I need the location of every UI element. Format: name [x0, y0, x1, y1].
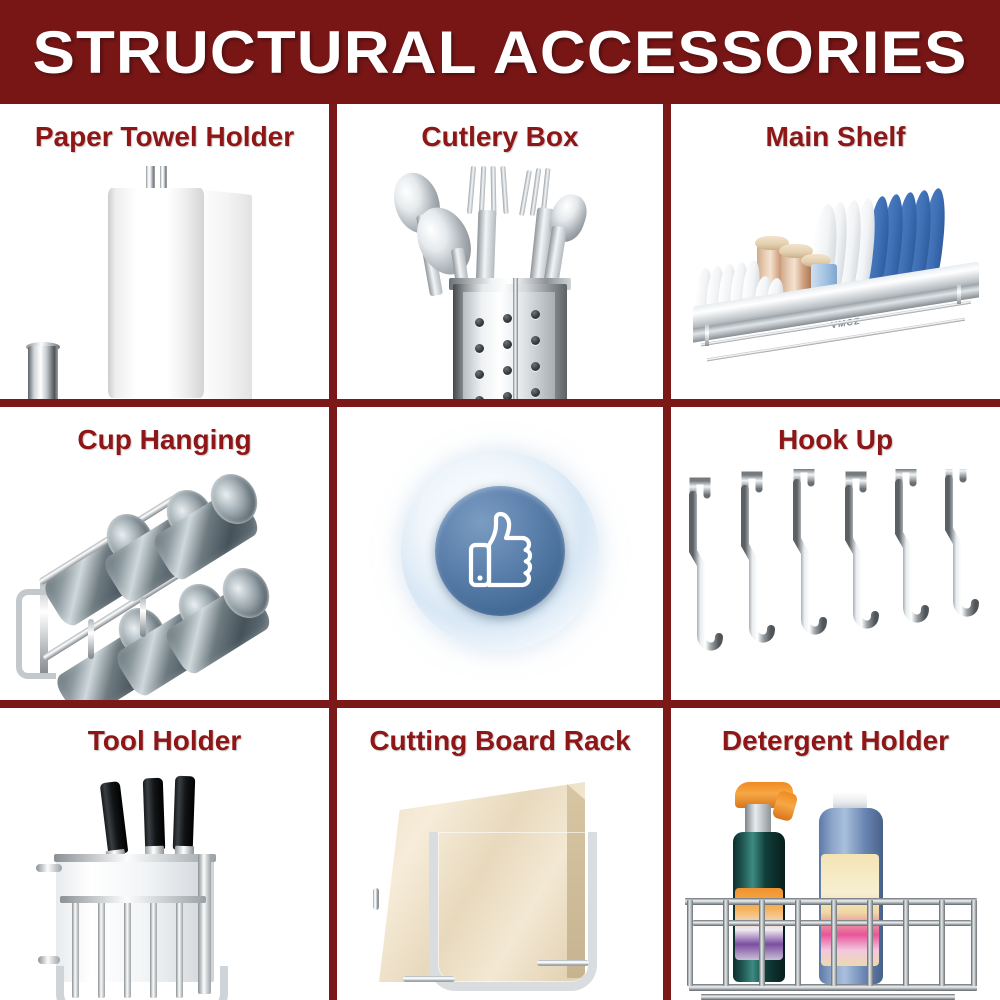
product-image-quality-badge: [337, 407, 663, 694]
cell-paper-towel-holder[interactable]: Paper Towel Holder: [0, 104, 329, 399]
cell-cutting-board-rack[interactable]: Cutting Board Rack: [337, 708, 663, 1000]
cell-cutlery-box[interactable]: Cutlery Box: [337, 104, 663, 399]
product-image-hook-up: [671, 469, 1000, 694]
fork-tine-3: [491, 166, 497, 216]
product-image-detergent-holder: [671, 770, 1000, 994]
grid-divider-vertical-1: [329, 104, 337, 1000]
cell-detergent-holder[interactable]: Detergent Holder: [671, 708, 1000, 1000]
rack-post: [88, 619, 94, 659]
cell-tool-holder[interactable]: Tool Holder: [0, 708, 329, 1000]
basket-rail: [60, 896, 206, 903]
cell-title-cutlery-box: Cutlery Box: [337, 122, 663, 153]
grid-divider-vertical-2: [663, 104, 671, 1000]
basket-wire: [687, 900, 693, 986]
feature-grid: Paper Towel Holder Cutlery Box: [0, 104, 1000, 1000]
cell-title-cutting-board-rack: Cutting Board Rack: [337, 726, 663, 757]
drain-hole: [503, 340, 512, 349]
cell-main-shelf[interactable]: Main Shelf: [671, 104, 1000, 399]
basket-wire: [723, 900, 729, 986]
drain-hole: [531, 388, 540, 397]
drain-hole: [475, 370, 484, 379]
holder-mount-tab: [36, 864, 62, 872]
hook-group: [671, 469, 1000, 694]
holder-mount-tab: [38, 956, 60, 964]
drain-hole: [531, 362, 540, 371]
basket-foot: [701, 994, 955, 1000]
rack-bracket: [16, 589, 56, 679]
drain-hole: [531, 310, 540, 319]
paper-sheet: [196, 189, 252, 399]
product-image-main-shelf: VMCZ: [671, 166, 1000, 393]
caddy-divider: [513, 278, 518, 399]
rack-foot: [537, 960, 589, 966]
product-image-cutlery-box: [337, 166, 663, 393]
cell-quality-badge[interactable]: [337, 407, 663, 700]
basket-wire: [795, 900, 801, 986]
basket-wire: [903, 900, 909, 986]
product-image-tool-holder: [0, 770, 329, 994]
cell-title-cup-hanging: Cup Hanging: [0, 425, 329, 456]
cell-title-hook-up: Hook Up: [671, 425, 1000, 456]
page-title: STRUCTURAL ACCESSORIES: [32, 18, 967, 87]
thumbs-up-icon: [454, 505, 546, 597]
header-banner: STRUCTURAL ACCESSORIES: [0, 0, 1000, 104]
product-feature-infographic: STRUCTURAL ACCESSORIES Paper Towel Holde…: [0, 0, 1000, 1000]
drain-hole: [503, 314, 512, 323]
product-image-paper-towel-holder: [0, 166, 329, 393]
basket-wire: [759, 900, 765, 986]
paper-towel-roll: [108, 188, 204, 398]
rack-post: [140, 597, 146, 637]
drain-hole: [503, 366, 512, 375]
cell-hook-up[interactable]: Hook Up: [671, 407, 1000, 700]
knife-handle: [173, 776, 196, 851]
fork-tine-2: [479, 166, 487, 216]
holder-panel: [56, 856, 214, 982]
cell-title-main-shelf: Main Shelf: [671, 122, 1000, 153]
rack-clip: [373, 888, 379, 910]
cell-title-tool-holder: Tool Holder: [0, 726, 329, 757]
rack-foot: [403, 976, 455, 982]
cell-title-detergent-holder: Detergent Holder: [671, 726, 1000, 757]
basket-wire: [831, 900, 837, 986]
drain-hole: [475, 344, 484, 353]
knife-handle: [143, 778, 166, 851]
basket-wire: [971, 900, 977, 986]
grid-divider-horizontal-2: [0, 700, 1000, 708]
chrome-post: [28, 346, 58, 399]
holder-top-edge: [54, 854, 216, 862]
cell-cup-hanging[interactable]: Cup Hanging: [0, 407, 329, 700]
product-image-cutting-board-rack: [337, 770, 663, 994]
drain-hole: [475, 318, 484, 327]
basket-wire: [939, 900, 945, 986]
basket-bottom: [56, 966, 228, 1000]
rack-foot: [705, 324, 709, 346]
rack-bracket: [429, 832, 597, 991]
product-image-cup-hanging: [0, 469, 329, 694]
rack-foot: [957, 284, 961, 304]
fork-tine-4: [500, 166, 508, 214]
fork-tine-1: [467, 166, 476, 214]
knife-handle: [100, 781, 129, 855]
grid-divider-horizontal-1: [0, 399, 1000, 407]
cell-title-paper-towel-holder: Paper Towel Holder: [0, 122, 329, 153]
basket-wire: [867, 900, 873, 986]
drain-hole: [531, 336, 540, 345]
drain-hole: [503, 392, 512, 399]
